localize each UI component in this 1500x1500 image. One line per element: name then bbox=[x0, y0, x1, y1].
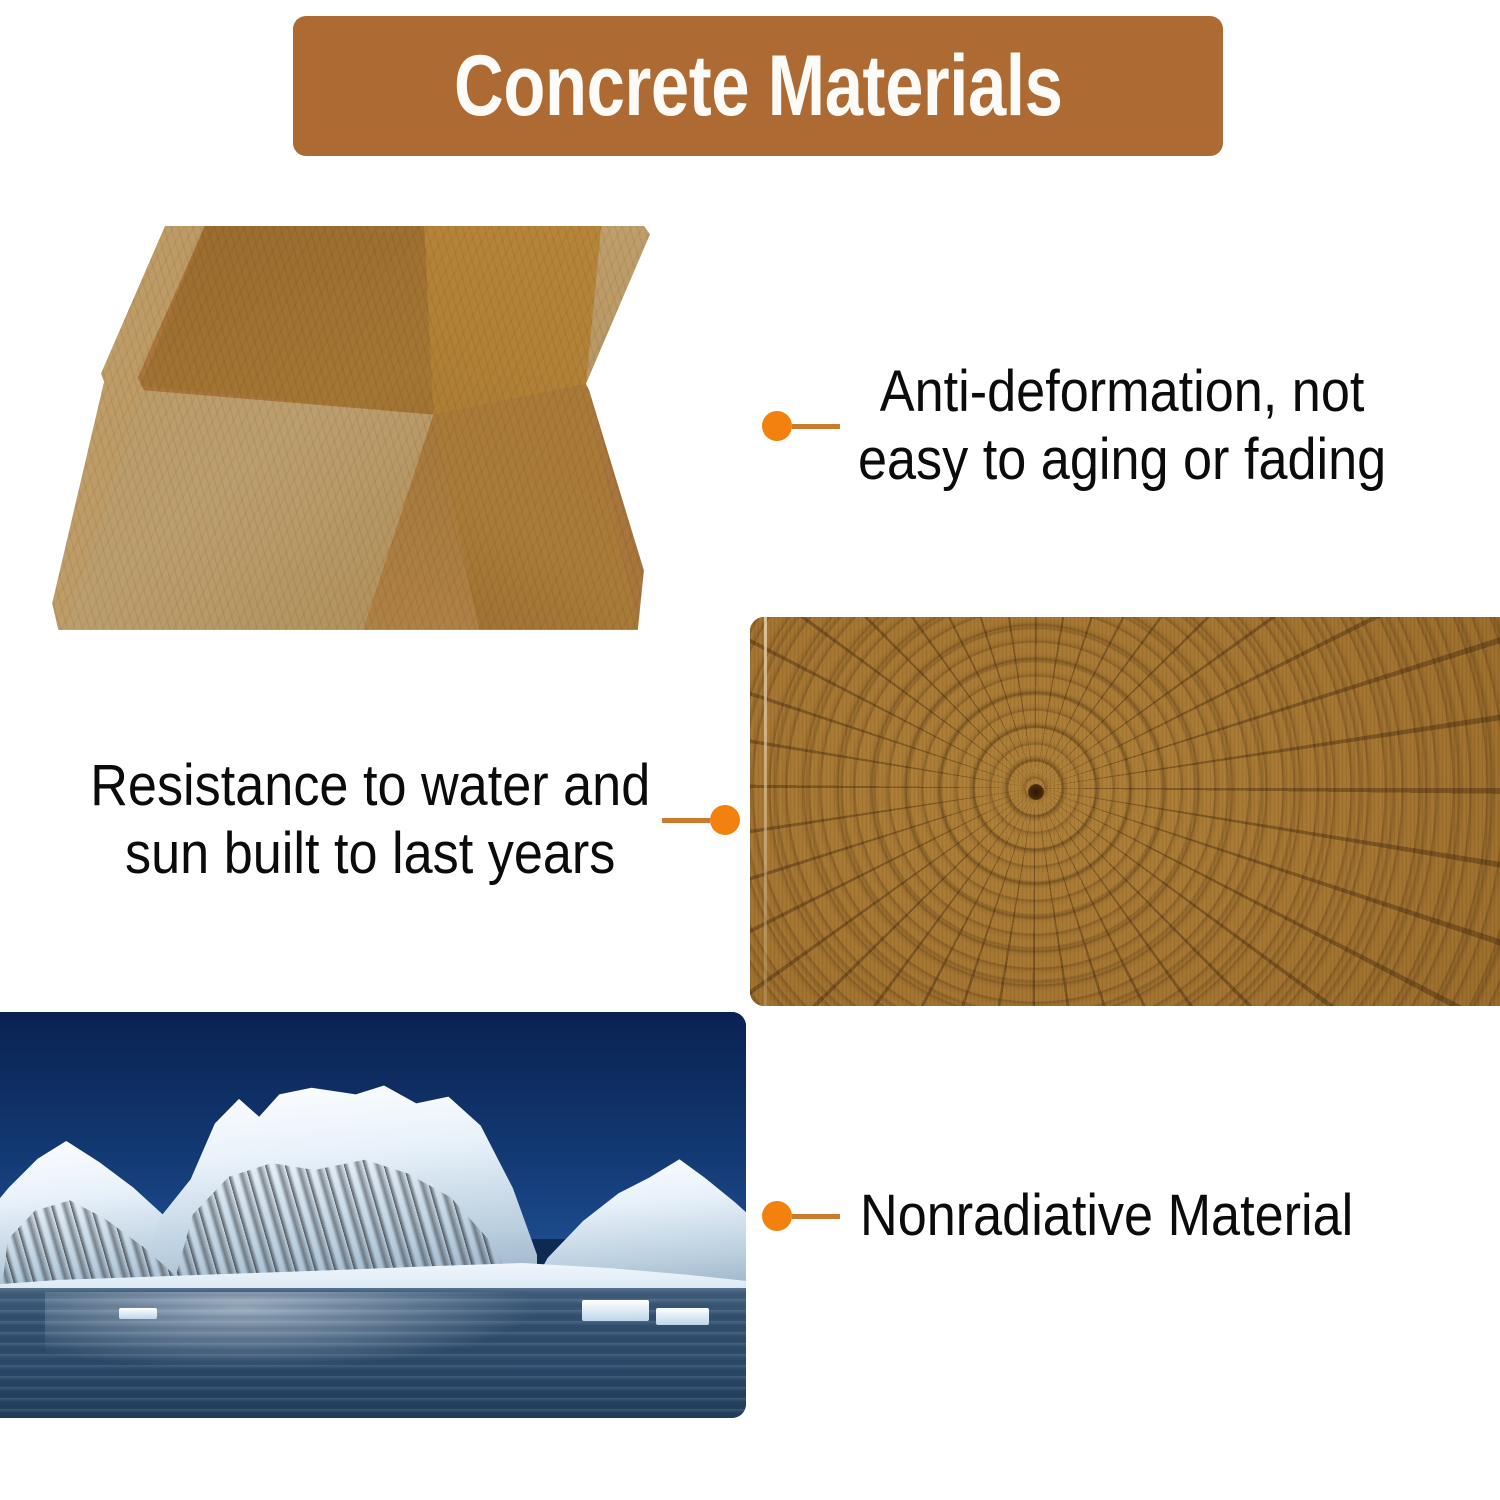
feature-label-resistance: Resistance to water and sun built to las… bbox=[90, 752, 650, 889]
feature-label-anti-deformation: Anti-deformation, not easy to aging or f… bbox=[858, 358, 1386, 495]
iceberg-1 bbox=[582, 1300, 649, 1320]
center-knot bbox=[1028, 784, 1044, 800]
feature-callout-resistance: Resistance to water and sun built to las… bbox=[28, 752, 740, 889]
bullet-dot-icon bbox=[762, 1201, 792, 1231]
feature-callout-nonradiative: Nonradiative Material bbox=[762, 1182, 1408, 1250]
connector-line bbox=[792, 1214, 840, 1219]
connector-line bbox=[792, 424, 840, 429]
title-banner: Concrete Materials bbox=[293, 16, 1223, 156]
wood-end-grain-photo bbox=[750, 617, 1500, 1006]
feature-label-nonradiative: Nonradiative Material bbox=[860, 1182, 1353, 1250]
faceted-wood-block-photo bbox=[40, 226, 650, 636]
page-title: Concrete Materials bbox=[454, 43, 1062, 129]
wood-block-silhouette bbox=[40, 226, 650, 636]
connector-line bbox=[662, 818, 710, 823]
bullet-dot-icon bbox=[762, 411, 792, 441]
iceberg-2 bbox=[656, 1308, 708, 1324]
polar-mountains-photo bbox=[0, 1012, 746, 1418]
wood-fiber-texture bbox=[750, 617, 1500, 1006]
bullet-dot-icon bbox=[710, 805, 740, 835]
iceberg-3 bbox=[119, 1308, 156, 1318]
plank-seam bbox=[764, 617, 767, 1006]
feature-callout-anti-deformation: Anti-deformation, not easy to aging or f… bbox=[762, 358, 1445, 495]
